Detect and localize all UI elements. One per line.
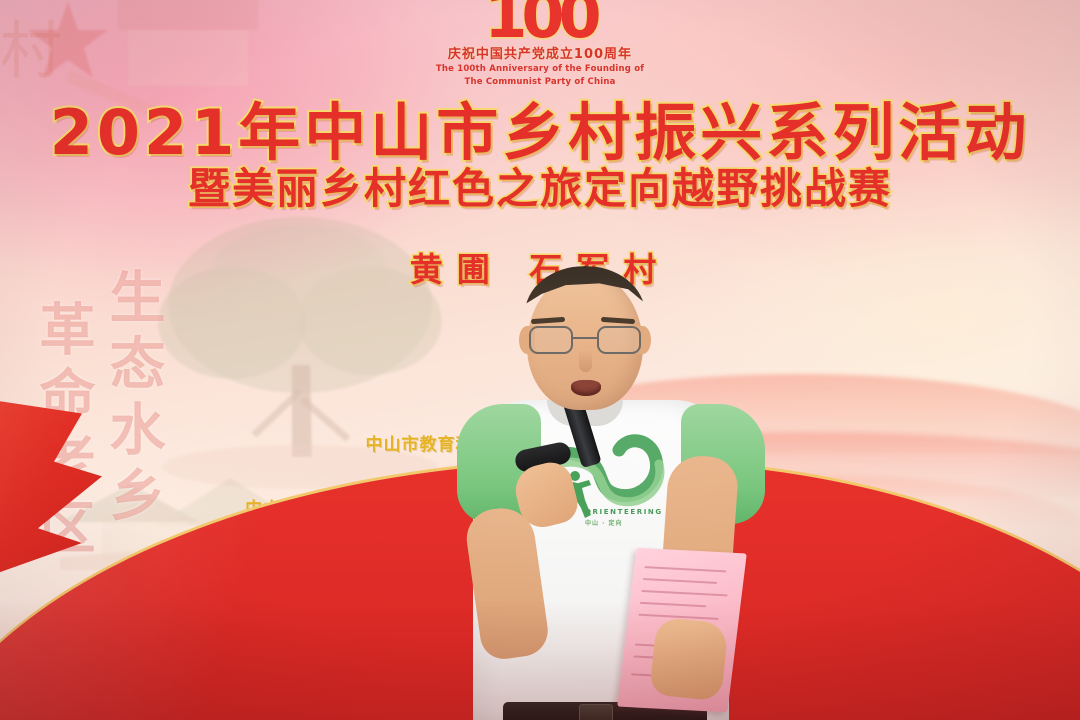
speaker-nose [579,350,592,372]
glasses-bridge [573,337,597,339]
speaker-hand-on-paper [649,616,729,701]
event-photo-stage: 村 革命老区 生态水乡 100 庆祝中国共产党成立100周年 The 100th… [0,0,1080,720]
glasses-lens-left [529,326,573,354]
emblem-number: 100 [484,0,595,39]
banner-title-sub: 暨美丽乡村红色之旅定向越野挑战赛 [0,155,1080,216]
glasses-lens-right [597,326,641,354]
emblem-english-line-1: The 100th Anniversary of the Founding of [0,64,1080,75]
emblem-chinese-text: 庆祝中国共产党成立100周年 [0,43,1080,62]
speaker-mouth [571,380,601,396]
belt-buckle [579,704,613,720]
cpc-100th-emblem: 100 庆祝中国共产党成立100周年 The 100th Anniversary… [0,0,1080,89]
speaker-person: ORIENTEERING 中山 · 定向 [455,250,765,720]
